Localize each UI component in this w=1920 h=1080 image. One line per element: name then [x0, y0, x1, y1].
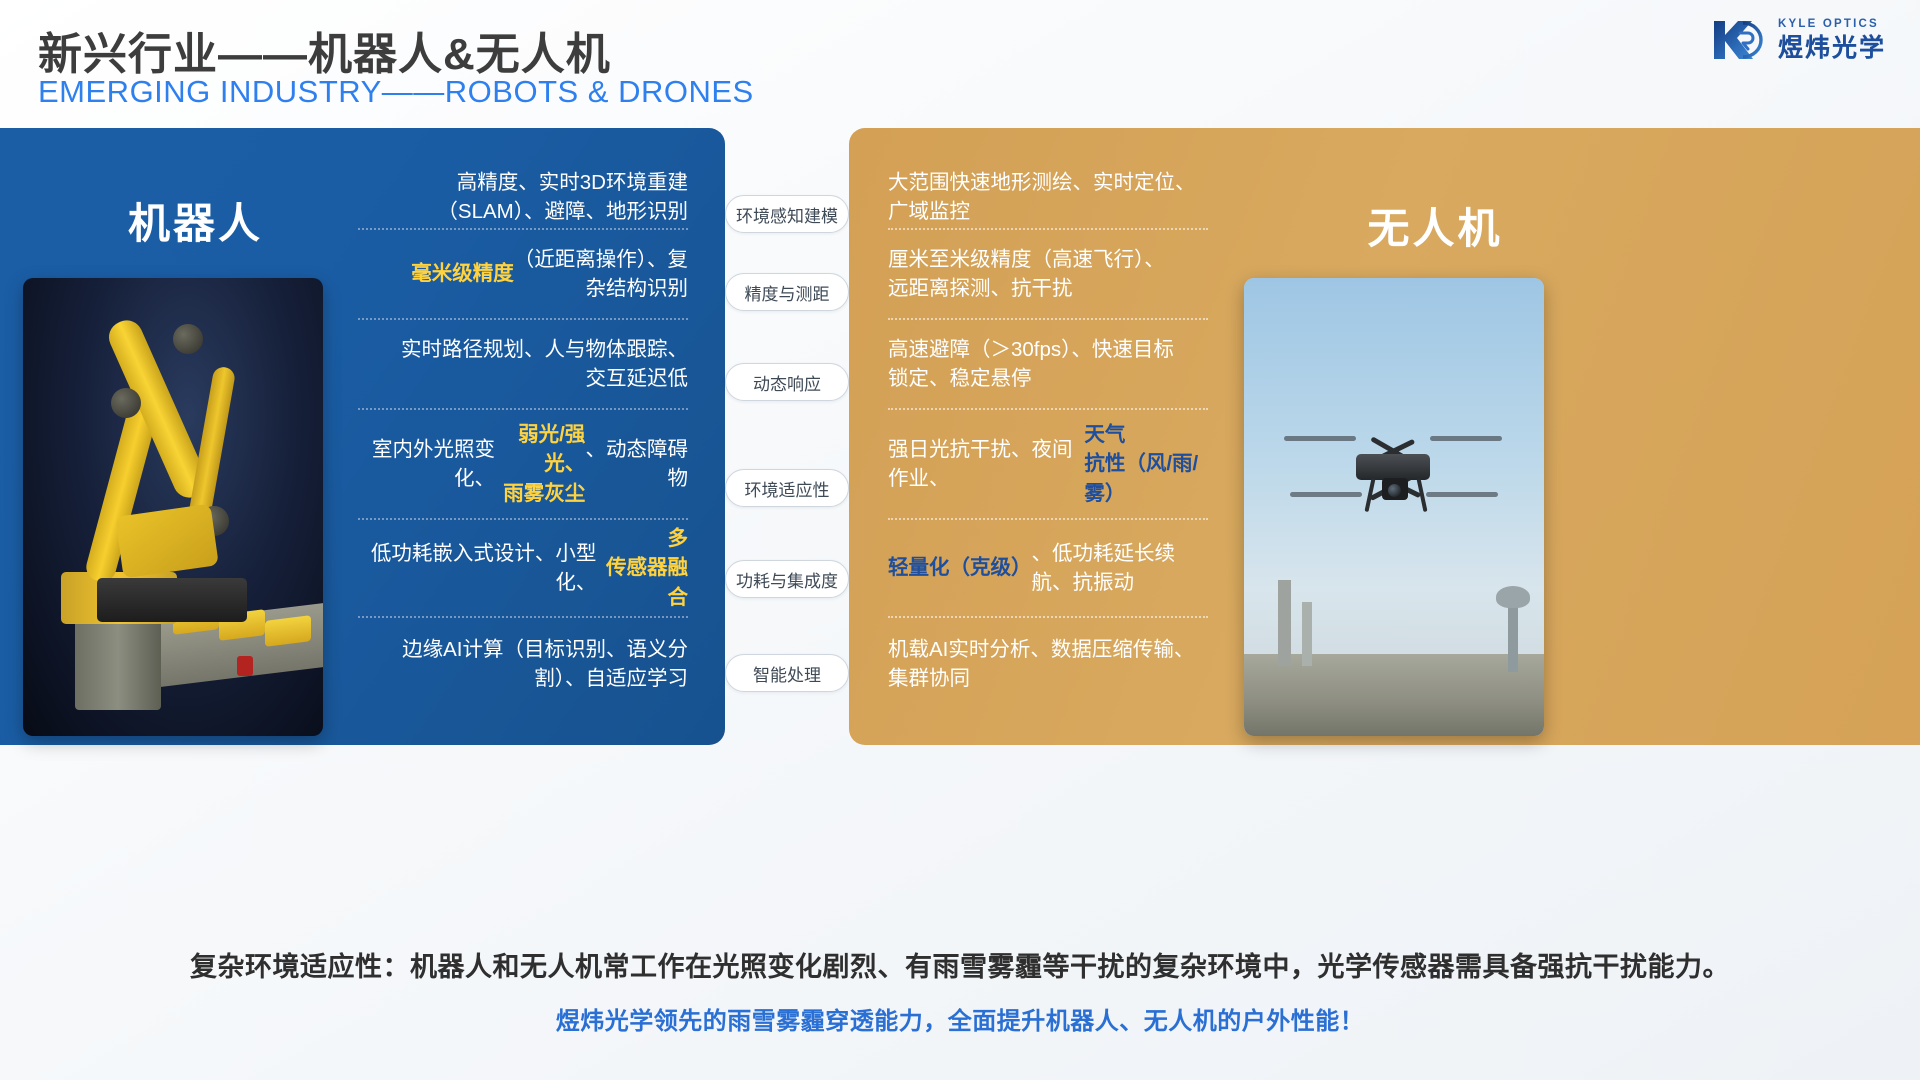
feature-item: 轻量化（克级）、低功耗延长续航、抗振动 [888, 520, 1208, 618]
logo-text-en: KYLE OPTICS [1778, 19, 1886, 31]
summary-line-highlight: 煜炜光学领先的雨雪雾霾穿透能力，全面提升机器人、无人机的户外性能！ [0, 1001, 1920, 1036]
capability-pill-column: 环境感知建模 精度与测距 动态响应 环境适应性 功耗与集成度 智能处理 [725, 128, 849, 745]
pill-intelligent-processing[interactable]: 智能处理 [725, 654, 849, 692]
robot-panel-title: 机器人 [48, 190, 343, 251]
slide-root: 新兴行业——机器人&无人机 EMERGING INDUSTRY——ROBOTS … [0, 0, 1920, 1080]
drone-photo [1244, 278, 1544, 736]
feature-text: 机载AI实时分析、数据压缩传输、集群协同 [888, 618, 1208, 710]
drone-panel-title: 无人机 [1285, 195, 1585, 256]
feature-text: 实时路径规划、人与物体跟踪、交互延迟低 [358, 320, 688, 408]
feature-item: 厘米至米级精度（高速飞行）、远距离探测、抗干扰 [888, 230, 1208, 320]
summary-block: 复杂环境适应性：机器人和无人机常工作在光照变化剧烈、有雨雪雾霾等干扰的复杂环境中… [0, 950, 1920, 1036]
feature-item: 强日光抗干扰、夜间作业、天气抗性（风/雨/雾） [888, 410, 1208, 520]
logo-text-cn: 煜炜光学 [1778, 36, 1886, 61]
pill-power-integration[interactable]: 功耗与集成度 [725, 560, 849, 598]
page-title-en: EMERGING INDUSTRY——ROBOTS & DRONES [38, 74, 754, 110]
pill-dynamic-response[interactable]: 动态响应 [725, 363, 849, 401]
feature-text: 厘米至米级精度（高速飞行）、远距离探测、抗干扰 [888, 230, 1208, 318]
feature-text: 强日光抗干扰、夜间作业、天气抗性（风/雨/雾） [888, 410, 1208, 518]
feature-item: 机载AI实时分析、数据压缩传输、集群协同 [888, 618, 1208, 710]
feature-text: 室内外光照变化、弱光/强光、雨雾灰尘、动态障碍物 [358, 410, 688, 518]
drone-feature-list: 大范围快速地形测绘、实时定位、广域监控 厘米至米级精度（高速飞行）、远距离探测、… [888, 166, 1208, 710]
company-logo: KYLE OPTICS 煜炜光学 [1710, 14, 1886, 66]
robot-feature-list: 高精度、实时3D环境重建（SLAM）、避障、地形识别 毫米级精度（近距离操作）、… [358, 166, 688, 710]
slide-header: 新兴行业——机器人&无人机 EMERGING INDUSTRY——ROBOTS … [0, 0, 1920, 130]
pill-environment-adaptability[interactable]: 环境适应性 [725, 469, 849, 507]
feature-text: 高精度、实时3D环境重建（SLAM）、避障、地形识别 [358, 166, 688, 228]
feature-text: 边缘AI计算（目标识别、语义分割）、自适应学习 [358, 618, 688, 710]
robot-photo [23, 278, 323, 736]
feature-item: 边缘AI计算（目标识别、语义分割）、自适应学习 [358, 618, 688, 710]
page-title-cn: 新兴行业——机器人&无人机 [38, 18, 611, 82]
feature-item: 毫米级精度（近距离操作）、复杂结构识别 [358, 230, 688, 320]
feature-text: 大范围快速地形测绘、实时定位、广域监控 [888, 166, 1208, 228]
kyle-optics-k-emblem-icon [1710, 17, 1768, 63]
feature-item: 高速避障（＞30fps）、快速目标锁定、稳定悬停 [888, 320, 1208, 410]
feature-text: 轻量化（克级）、低功耗延长续航、抗振动 [888, 520, 1208, 616]
feature-item: 大范围快速地形测绘、实时定位、广域监控 [888, 166, 1208, 230]
feature-item: 实时路径规划、人与物体跟踪、交互延迟低 [358, 320, 688, 410]
feature-item: 高精度、实时3D环境重建（SLAM）、避障、地形识别 [358, 166, 688, 230]
feature-item: 室内外光照变化、弱光/强光、雨雾灰尘、动态障碍物 [358, 410, 688, 520]
feature-text: 低功耗嵌入式设计、小型化、多传感器融合 [358, 520, 688, 616]
summary-line-primary: 复杂环境适应性：机器人和无人机常工作在光照变化剧烈、有雨雪雾霾等干扰的复杂环境中… [0, 950, 1920, 985]
feature-item: 低功耗嵌入式设计、小型化、多传感器融合 [358, 520, 688, 618]
feature-text: 毫米级精度（近距离操作）、复杂结构识别 [358, 230, 688, 318]
logo-wordmark: KYLE OPTICS 煜炜光学 [1778, 19, 1886, 61]
pill-environment-perception[interactable]: 环境感知建模 [725, 195, 849, 233]
pill-accuracy-ranging[interactable]: 精度与测距 [725, 273, 849, 311]
feature-text: 高速避障（＞30fps）、快速目标锁定、稳定悬停 [888, 320, 1208, 408]
